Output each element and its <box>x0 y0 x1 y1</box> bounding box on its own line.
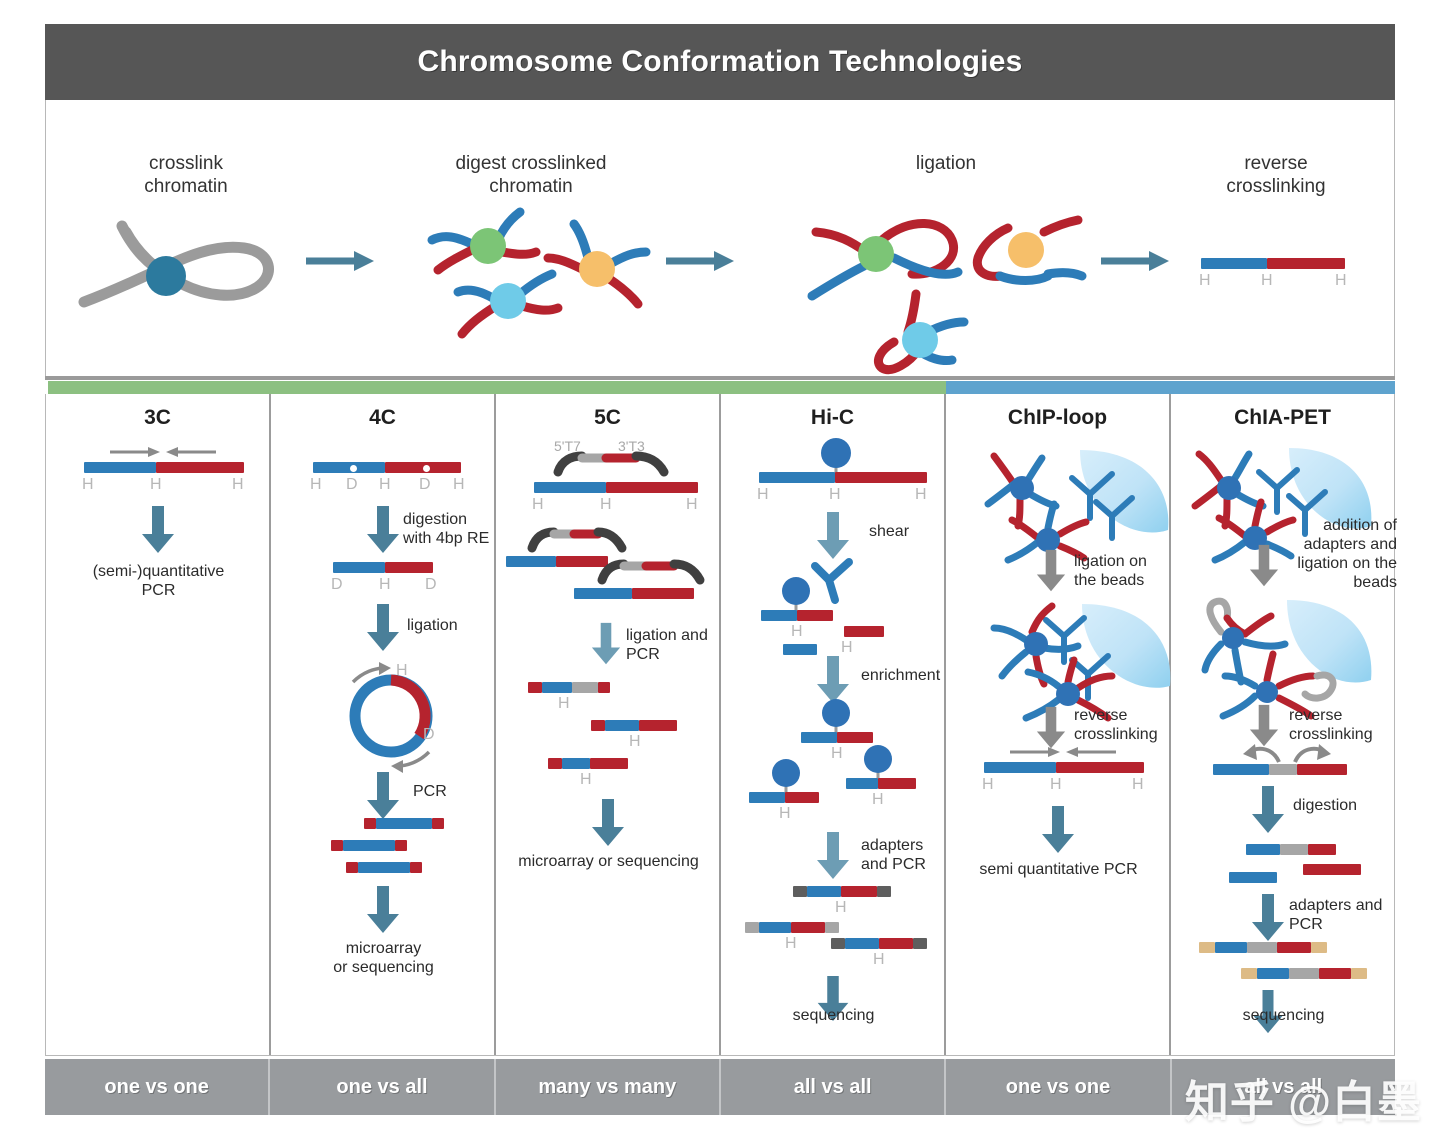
mark-h: H <box>580 771 592 789</box>
down-arrow-icon <box>366 506 400 554</box>
output-text-5c: microarray or sequencing <box>501 852 716 871</box>
mark-h: H <box>379 476 391 494</box>
mark-d: D <box>346 476 358 494</box>
footer-cell-hic: all vs all <box>721 1059 946 1115</box>
step-label-ligation-pcr: ligation and PCR <box>626 626 722 664</box>
mark-h: H <box>1261 272 1273 290</box>
column-header-hic: Hi-C <box>721 406 944 430</box>
category-bar-divider <box>45 376 1395 380</box>
mark-h: H <box>1132 776 1144 794</box>
step-label-ligation: ligation <box>407 616 497 635</box>
digested-fragment-1 <box>1246 844 1338 858</box>
step-label-reverse-crosslinking: reverse crosslinking <box>1074 706 1178 744</box>
mark-h: H <box>785 935 797 953</box>
biotin-label-icon <box>779 574 813 612</box>
ligation-product: H <box>548 758 626 792</box>
pcr-primers-icon <box>108 444 218 460</box>
mark-h: H <box>629 733 641 751</box>
column-header-3c: 3C <box>46 406 269 430</box>
down-arrow-icon <box>816 512 850 560</box>
category-bar-3c-methods <box>48 381 946 394</box>
workflow-arrow-1-icon <box>306 248 376 274</box>
mark-h: H <box>686 496 698 514</box>
mark-h: H <box>310 476 322 494</box>
mark-h: H <box>1335 272 1347 290</box>
adapter-pcr-product-1 <box>1199 942 1329 956</box>
digest-site-dot <box>423 465 430 472</box>
mark-d: D <box>425 576 437 594</box>
ligation-product: H <box>591 720 671 754</box>
diagram-page: Chromosome Conformation Technologies cro… <box>0 0 1440 1148</box>
crosslinked-chromatin-icon <box>76 210 296 330</box>
mark-h: H <box>1050 776 1062 794</box>
mark-h: H <box>835 899 847 917</box>
mark-h: H <box>982 776 994 794</box>
adapter-pcr-product-2 <box>1241 968 1371 982</box>
workflow-step-label-digest: digest crosslinked chromatin <box>401 152 661 198</box>
mark-h: H <box>453 476 465 494</box>
down-arrow-icon <box>366 772 400 820</box>
dna-fragment-4c-digested: D H D <box>333 562 463 598</box>
primer-pair-icon <box>598 564 708 590</box>
dna-fragment-chip-loop: H H H <box>984 762 1159 798</box>
column-chip-loop: ChIP-loop <box>946 394 1171 1055</box>
mark-h: H <box>1199 272 1211 290</box>
step-label-pcr: PCR <box>413 782 493 801</box>
enriched-fragment-2: H <box>846 778 956 812</box>
mark-h: H <box>873 951 885 969</box>
digested-fragment-3 <box>1303 864 1365 878</box>
down-arrow-icon <box>1036 549 1066 593</box>
column-3c: 3C H H H (semi-)quantitative PCR <box>46 394 271 1055</box>
output-text-hic: sequencing <box>731 1006 936 1025</box>
pcr-product <box>331 840 407 852</box>
mark-h: H <box>872 791 884 809</box>
biotin-label-icon <box>819 436 853 474</box>
dna-fragment-hic: H H H <box>759 472 939 508</box>
mark-h: H <box>600 496 612 514</box>
pcr-product <box>346 862 422 874</box>
down-arrow-icon <box>1041 806 1075 854</box>
mark-d: D <box>419 476 431 494</box>
mark-h: H <box>841 639 853 657</box>
digest-site-dot <box>350 465 357 472</box>
footer-cell-5c: many vs many <box>496 1059 721 1115</box>
biotin-label-icon <box>861 742 895 780</box>
down-arrow-icon <box>1251 786 1285 834</box>
mark-h: H <box>558 695 570 713</box>
mark-h: H <box>915 486 927 504</box>
mark-h: H <box>379 576 391 594</box>
down-arrow-icon <box>366 604 400 652</box>
column-chia-pet: ChIA-PET <box>1171 394 1394 1055</box>
output-text-chip-loop: semi quantitative PCR <box>951 860 1166 879</box>
step-label-adapters-pcr: adapters and PCR <box>861 836 957 874</box>
column-header-4c: 4C <box>271 406 494 430</box>
primer-pair-icon <box>554 456 670 482</box>
mark-h: H <box>232 476 244 494</box>
down-arrow-icon <box>1249 544 1279 588</box>
column-header-chip-loop: ChIP-loop <box>946 406 1169 430</box>
down-arrow-icon <box>141 506 175 554</box>
down-arrow-icon <box>366 886 400 934</box>
down-arrow-icon <box>591 622 621 666</box>
methods-columns: 3C H H H (semi-)quantitative PCR <box>45 394 1395 1056</box>
mark-h: H <box>779 805 791 823</box>
biotin-label-icon <box>769 756 803 794</box>
mark-h: H <box>791 623 803 641</box>
primer-pair-icon <box>528 532 628 558</box>
down-arrow-icon <box>591 799 625 847</box>
workflow-step-label-crosslink: crosslink chromatin <box>86 152 286 198</box>
step-label-digestion: digestion <box>1293 796 1393 815</box>
column-5c: 5C 5'T7 3'T3 H H H <box>496 394 721 1055</box>
mark-h: H <box>831 745 843 763</box>
dna-fragment-3c: H H H <box>84 462 254 498</box>
ligation-product: H <box>528 682 608 716</box>
digested-fragment-2 <box>1229 872 1289 886</box>
down-arrow-icon <box>1251 894 1285 942</box>
footer-cell-chia-pet: all vs all <box>1172 1059 1395 1115</box>
mark-h: H <box>82 476 94 494</box>
step-label-adapters-pcr: adapters and PCR <box>1289 896 1397 934</box>
ligated-products-icon <box>786 192 1086 372</box>
workflow-arrow-2-icon <box>666 248 736 274</box>
adapter-product-1: H <box>793 886 893 920</box>
dna-fragment-5c-3 <box>574 588 714 602</box>
mark-d: D <box>331 576 343 594</box>
enriched-fragment-3: H <box>749 792 859 826</box>
reverse-crosslink-product: H H H <box>1201 258 1351 298</box>
footer-cell-3c: one vs one <box>45 1059 270 1115</box>
output-text-4c: microarray or sequencing <box>281 939 486 977</box>
category-bar-chip-methods <box>946 381 1395 394</box>
output-text-3c: (semi-)quantitative PCR <box>56 562 261 600</box>
step-label-adapters-ligation: addition of adapters and ligation on the… <box>1279 516 1397 592</box>
mark-h: H <box>757 486 769 504</box>
comparison-footer: one vs one one vs all many vs many all v… <box>45 1059 1395 1115</box>
workflow-arrow-3-icon <box>1101 248 1171 274</box>
adapter-product-3: H <box>831 938 935 972</box>
primer-label-5prime-t7: 5'T7 <box>554 438 581 454</box>
biotin-label-icon <box>819 696 853 734</box>
workflow-step-label-reverse: reverse crosslinking <box>1166 152 1386 198</box>
mark-h: H <box>829 486 841 504</box>
mark-d: D <box>423 726 435 744</box>
sheared-fragment-right <box>844 626 904 640</box>
column-hic: Hi-C H H H shear <box>721 394 946 1055</box>
step-label-ligation-beads: ligation on the beads <box>1074 552 1178 590</box>
primer-label-3prime-t3: 3'T3 <box>618 438 645 454</box>
footer-cell-chip-loop: one vs one <box>946 1059 1171 1115</box>
mark-h: H <box>150 476 162 494</box>
down-arrow-icon <box>816 832 850 880</box>
adapter-product-2: H <box>745 922 845 956</box>
digested-chromatin-icon <box>416 196 676 366</box>
mark-h: H <box>532 496 544 514</box>
workflow-panel: crosslink chromatin digest crosslinked c… <box>45 100 1395 378</box>
pcr-product <box>364 818 444 830</box>
step-label-reverse-crosslinking: reverse crosslinking <box>1289 706 1395 744</box>
pcr-primers-icon <box>1008 744 1118 760</box>
output-text-chia-pet: sequencing <box>1176 1006 1391 1025</box>
page-title: Chromosome Conformation Technologies <box>417 45 1022 79</box>
column-header-5c: 5C <box>496 406 719 430</box>
dna-fragment-4c: H D H D H <box>313 462 493 502</box>
workflow-step-label-ligation: ligation <box>836 152 1056 175</box>
dna-fragment-5c-1: H H H <box>534 482 709 518</box>
column-4c: 4C H D H D H digestion with 4bp RE <box>271 394 496 1055</box>
dna-fragment-with-linker <box>1213 764 1383 778</box>
title-bar: Chromosome Conformation Technologies <box>45 24 1395 100</box>
step-label-shear: shear <box>869 522 939 541</box>
mark-h: H <box>396 662 408 680</box>
digestion-site-arrows-icon <box>1233 742 1343 766</box>
column-header-chia-pet: ChIA-PET <box>1171 406 1394 430</box>
footer-cell-4c: one vs all <box>270 1059 495 1115</box>
